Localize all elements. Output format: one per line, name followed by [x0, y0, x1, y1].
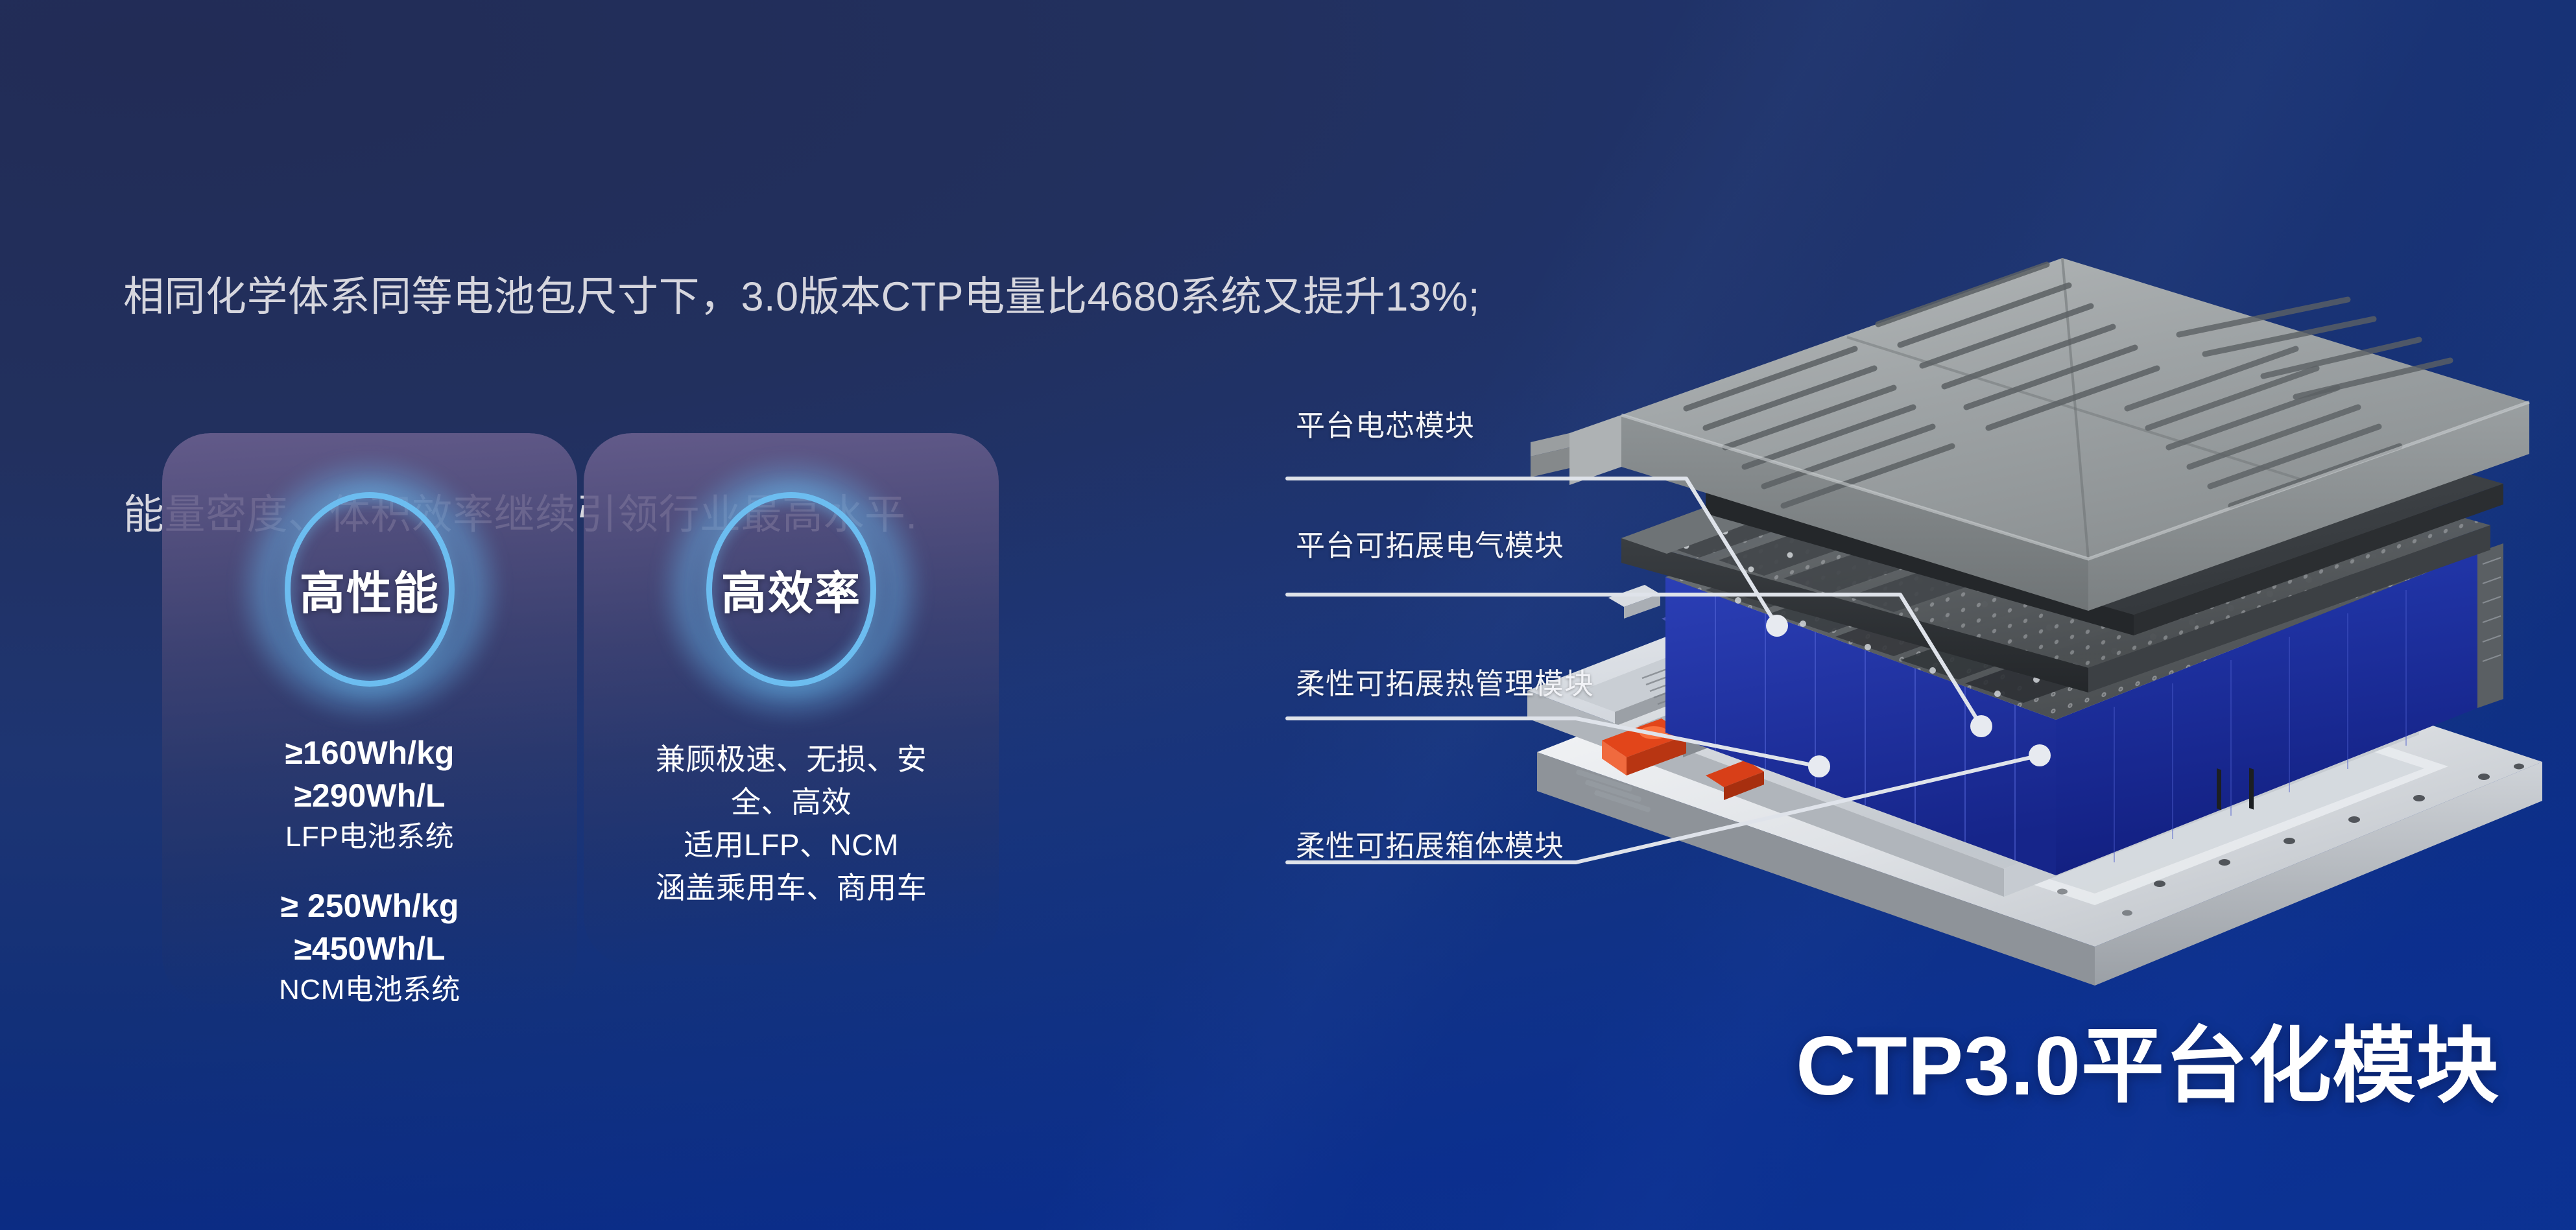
spec-block-ncm: ≥ 250Wh/kg ≥450Wh/L NCM电池系统 — [162, 884, 577, 1004]
ring-badge-high-efficiency: 高效率 — [584, 482, 999, 696]
battery-pack-exploded-render — [1492, 214, 2576, 1005]
bullet-line: 兼顾极速、无损、安 — [584, 738, 999, 781]
spec-value: ≥290Wh/L — [162, 774, 577, 817]
cell-fins-right — [2477, 543, 2503, 708]
card-body-high-performance: ≥160Wh/kg ≥290Wh/L LFP电池系统 ≥ 250Wh/kg ≥4… — [162, 731, 577, 1004]
ring-badge-high-performance: 高性能 — [162, 482, 577, 696]
callout-flexible-thermal-module: 柔性可拓展热管理模块 — [1296, 660, 1594, 702]
callout-platform-cell-module: 平台电芯模块 — [1296, 402, 1475, 444]
spec-value: ≥ 250Wh/kg — [162, 884, 577, 927]
slide-stage: 相同化学体系同等电池包尺寸下，3.0版本CTP电量比4680系统又提升13%; … — [0, 0, 2576, 1230]
callout-label: 平台电芯模块 — [1296, 402, 1475, 444]
callout-label: 平台可拓展电气模块 — [1296, 522, 1564, 564]
page-title: CTP3.0平台化模块 — [1796, 999, 2499, 1118]
callout-flexible-enclosure-module: 柔性可拓展箱体模块 — [1296, 822, 1564, 864]
spec-note: NCM电池系统 — [162, 970, 577, 1004]
spec-note: LFP电池系统 — [162, 817, 577, 857]
callout-label: 柔性可拓展箱体模块 — [1296, 822, 1564, 864]
card-body-high-efficiency: 兼顾极速、无损、安 全、高效 适用LFP、NCM 涵盖乘用车、商用车 — [584, 738, 999, 909]
ring-label: 高效率 — [721, 557, 861, 622]
bullet-line: 全、高效 — [584, 781, 999, 823]
spec-value: ≥160Wh/kg — [162, 731, 577, 774]
bullet-line: 适用LFP、NCM — [584, 823, 999, 866]
ring-label: 高性能 — [300, 557, 440, 622]
callout-platform-electrical-module: 平台可拓展电气模块 — [1296, 522, 1564, 564]
feature-card-high-efficiency[interactable]: 高效率 兼顾极速、无损、安 全、高效 适用LFP、NCM 涵盖乘用车、商用车 — [584, 433, 999, 965]
bullet-line: 涵盖乘用车、商用车 — [584, 866, 999, 909]
feature-card-high-performance[interactable]: 高性能 ≥160Wh/kg ≥290Wh/L LFP电池系统 ≥ 250Wh/k… — [162, 433, 577, 1004]
callout-label: 柔性可拓展热管理模块 — [1296, 660, 1594, 702]
spec-block-lfp: ≥160Wh/kg ≥290Wh/L LFP电池系统 — [162, 731, 577, 857]
spec-value: ≥450Wh/L — [162, 927, 577, 970]
